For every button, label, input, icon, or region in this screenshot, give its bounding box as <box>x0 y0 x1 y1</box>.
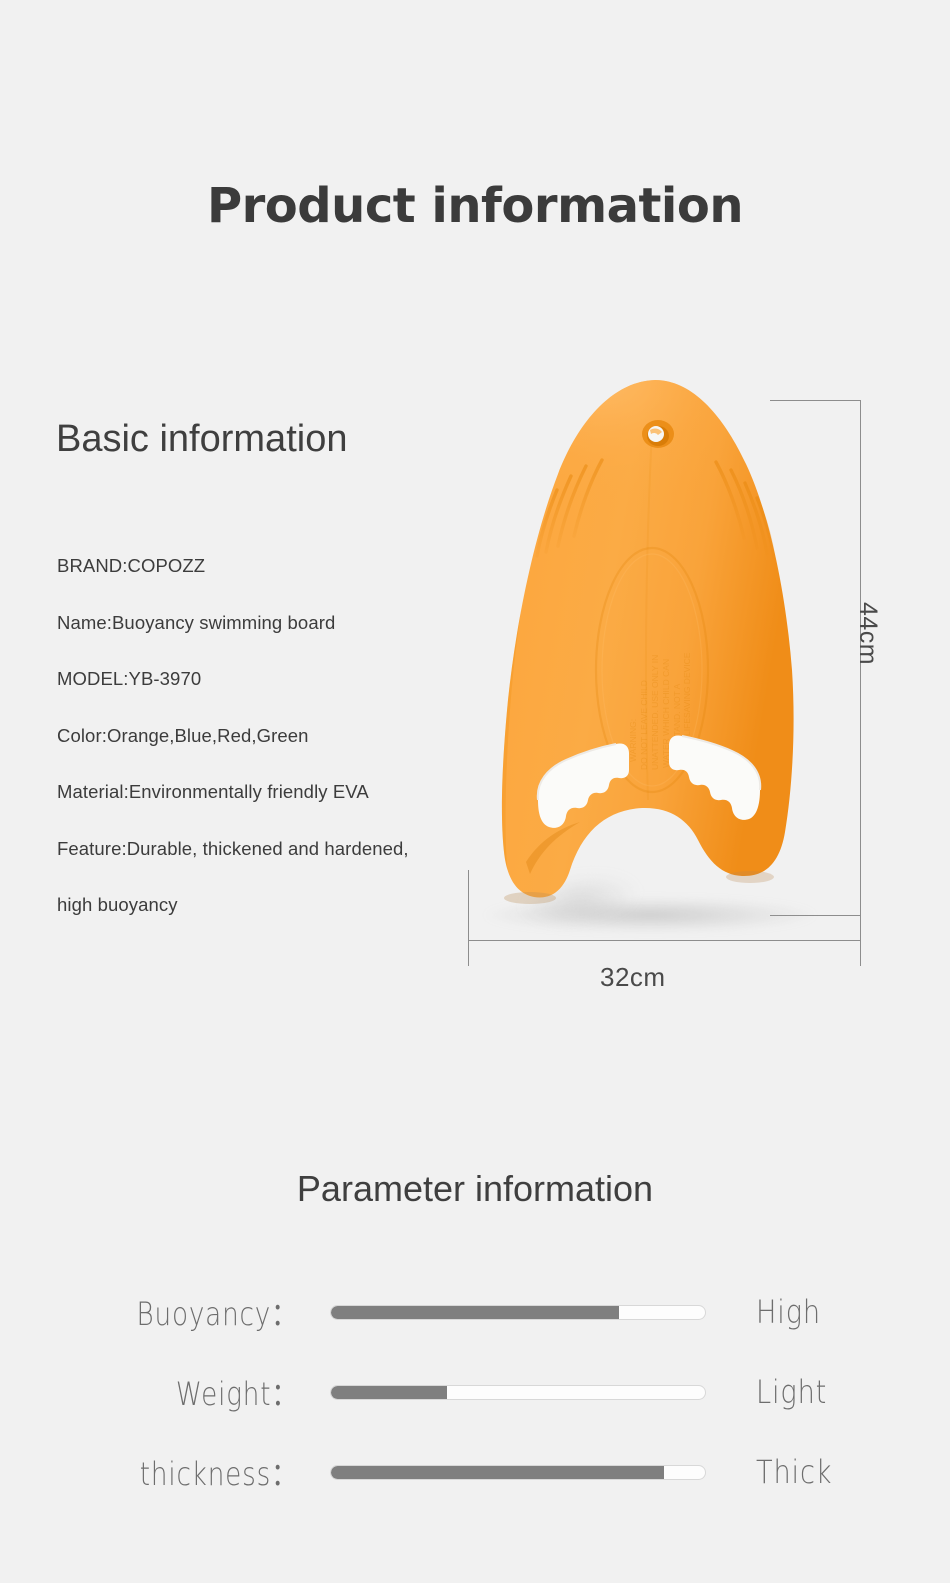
parameter-bar-buoyancy <box>330 1305 706 1320</box>
dimension-label-height: 44cm <box>853 602 882 665</box>
parameter-label-weight: Weight： <box>175 1369 298 1415</box>
product-photo-area: WARNING: DO NOT LEAVE CHILD UNATTENDED. … <box>430 370 900 990</box>
parameter-bar-thickness <box>330 1465 706 1480</box>
page-title: Product information <box>0 178 950 234</box>
svg-text:STAND. NOT A: STAND. NOT A <box>672 683 682 742</box>
parameter-label-buoyancy: Buoyancy： <box>136 1289 298 1335</box>
parameter-row-thickness: thickness： Thick <box>0 1432 950 1512</box>
parameter-rows: Buoyancy： High Weight： Light thickness： … <box>0 1272 950 1512</box>
parameter-row-buoyancy: Buoyancy： High <box>0 1272 950 1352</box>
parameter-label-thickness: thickness： <box>140 1449 298 1495</box>
svg-text:WARNING:: WARNING: <box>628 719 638 762</box>
kickboard-image: WARNING: DO NOT LEAVE CHILD UNATTENDED. … <box>430 370 900 990</box>
board-body <box>476 370 825 897</box>
parameter-bar-weight <box>330 1385 706 1400</box>
hanging-hole <box>642 420 674 448</box>
parameter-bar-fill-thickness <box>331 1466 664 1479</box>
dimension-tick-right <box>860 870 861 966</box>
svg-text:LIFESAVING DEVICE: LIFESAVING DEVICE <box>682 652 692 736</box>
dimension-tick-left <box>468 870 469 966</box>
basic-information-heading: Basic information <box>56 418 347 461</box>
parameter-value-weight: Light <box>756 1373 827 1411</box>
dimension-label-width: 32cm <box>600 962 666 993</box>
parameter-value-thickness: Thick <box>756 1453 832 1491</box>
dimension-line-horizontal <box>468 940 861 941</box>
parameter-value-buoyancy: High <box>756 1293 821 1331</box>
parameter-bar-fill-weight <box>331 1386 447 1399</box>
svg-text:UNATTENDED. USE ONLY IN: UNATTENDED. USE ONLY IN <box>650 655 660 770</box>
parameter-bar-fill-buoyancy <box>331 1306 619 1319</box>
parameter-information-heading: Parameter information <box>0 1168 950 1210</box>
parameter-row-weight: Weight： Light <box>0 1352 950 1432</box>
svg-text:DO NOT LEAVE CHILD: DO NOT LEAVE CHILD <box>639 680 649 770</box>
